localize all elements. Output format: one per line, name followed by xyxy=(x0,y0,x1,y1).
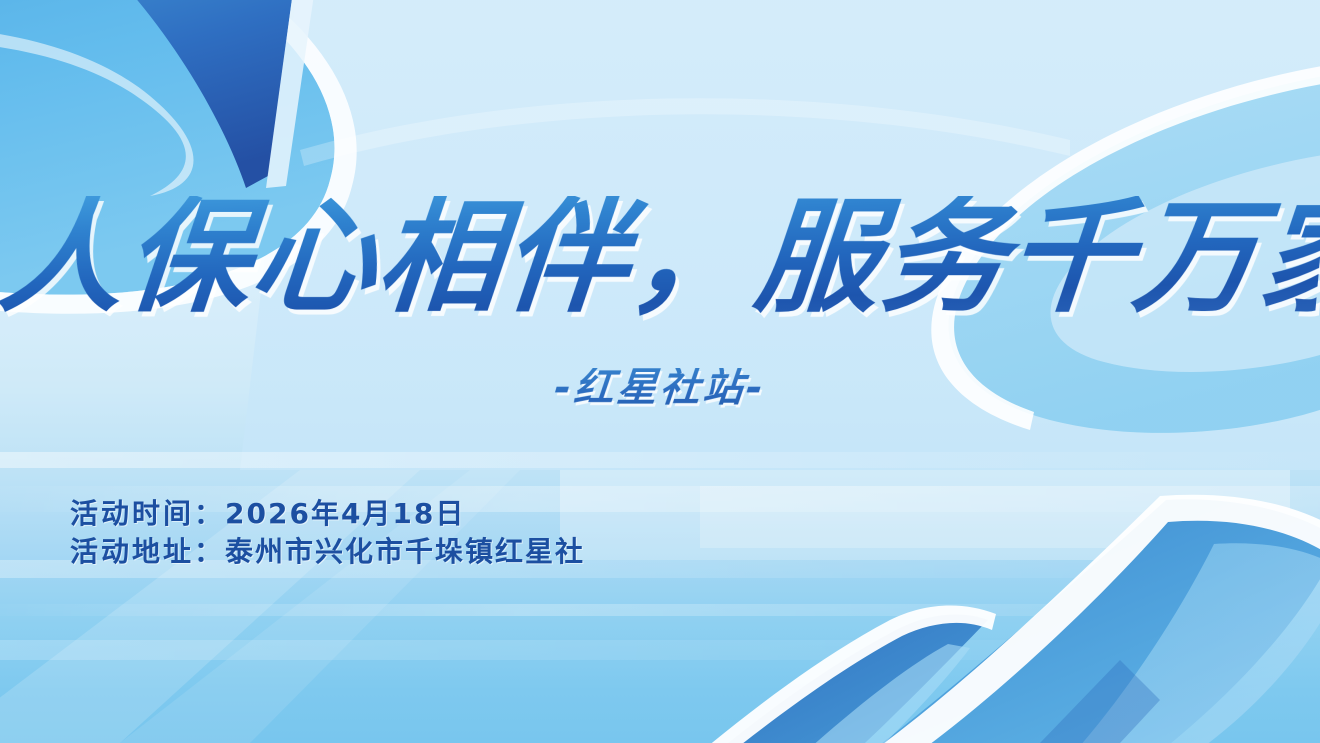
promo-banner: 人保心相伴，服务千万家 -红星社站- 活动时间：2026年4月18日 活动地址：… xyxy=(0,0,1320,743)
event-time-label: 活动时间： xyxy=(70,497,225,530)
event-address-value: 泰州市兴化市千垛镇红星社 xyxy=(225,535,585,568)
event-address-line: 活动地址：泰州市兴化市千垛镇红星社 xyxy=(70,533,585,571)
event-time-value: 2026年4月18日 xyxy=(225,497,465,530)
event-info-block: 活动时间：2026年4月18日 活动地址：泰州市兴化市千垛镇红星社 xyxy=(70,495,585,571)
event-time-line: 活动时间：2026年4月18日 xyxy=(70,495,585,533)
page-title: 人保心相伴，服务千万家 xyxy=(0,196,1320,320)
text-content: 人保心相伴，服务千万家 -红星社站- 活动时间：2026年4月18日 活动地址：… xyxy=(0,0,1320,743)
event-address-label: 活动地址： xyxy=(70,535,225,568)
page-subtitle: -红星社站- xyxy=(0,368,1320,408)
